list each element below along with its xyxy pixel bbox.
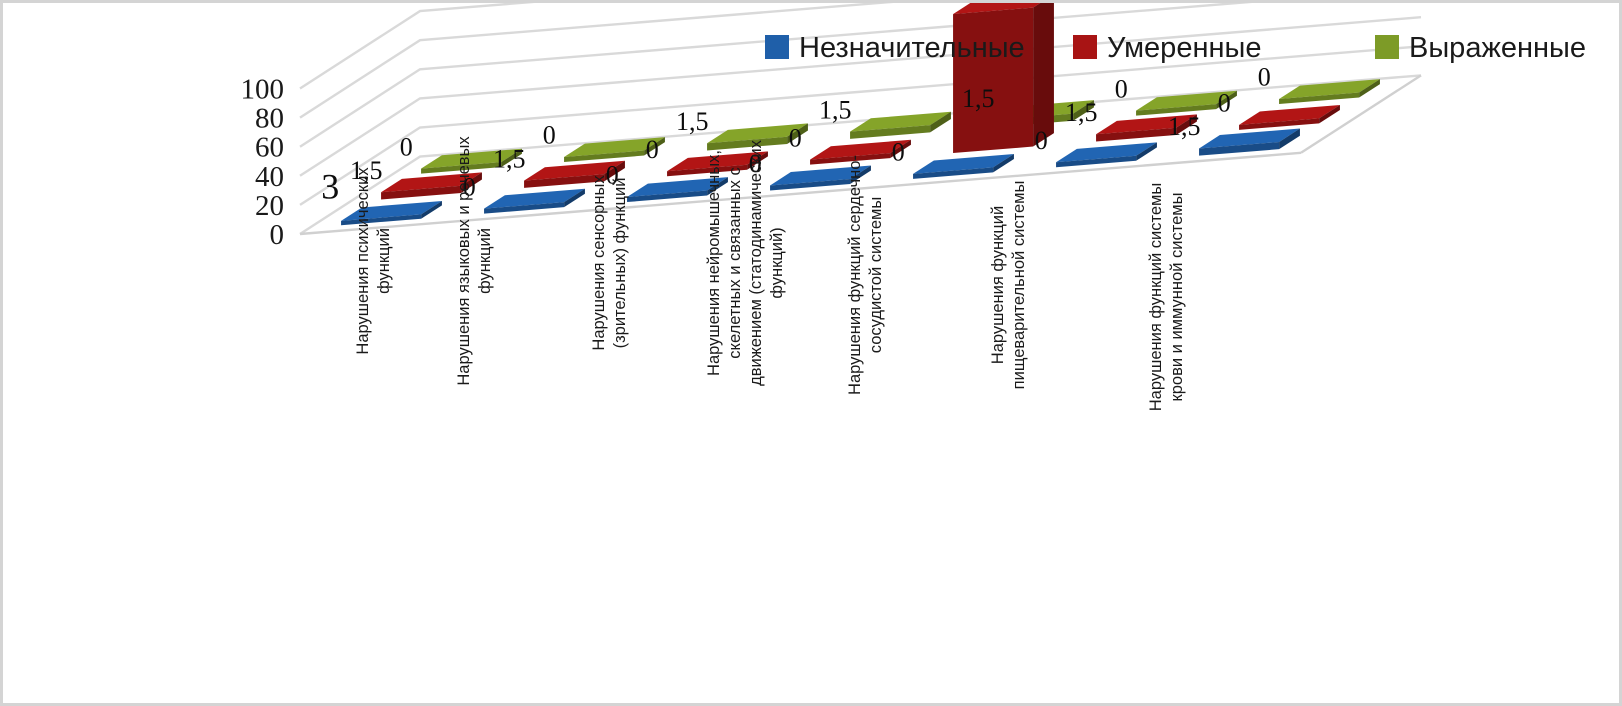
- x-axis-category-line: (зрительных) функций: [611, 178, 629, 349]
- x-axis-category-line: Нарушения функций: [989, 206, 1007, 364]
- y-axis-tick-label: 0: [270, 219, 285, 251]
- data-label: 0: [1035, 126, 1048, 155]
- data-label: 0: [646, 135, 659, 164]
- x-axis-category-line: сосудистой системы: [867, 197, 885, 353]
- x-axis-category-line: Нарушения психических: [354, 167, 372, 355]
- x-axis-category-line: Нарушения функций сердечно-: [846, 155, 864, 395]
- data-label: 0: [892, 138, 905, 167]
- x-axis-category-line: скелетных и связанных с: [726, 167, 744, 358]
- data-label: 1,5: [676, 107, 709, 136]
- legend-swatch: [765, 35, 789, 59]
- x-axis-category-line: Нарушения нейромышечных,: [705, 150, 723, 376]
- data-label: 1,5: [1168, 112, 1201, 141]
- y-axis-tick-label: 20: [255, 190, 284, 222]
- data-label: 3: [321, 167, 339, 207]
- x-axis-category-label: Нарушения функций сердечно-сосудистой си…: [846, 155, 885, 395]
- y-axis-ticks: 100806040200: [241, 74, 285, 252]
- x-axis-category-line: пищеварительной системы: [1010, 181, 1028, 390]
- y-axis-tick-label: 60: [255, 132, 284, 164]
- data-label: 1,5: [1065, 98, 1098, 127]
- bar-front-face: [953, 8, 1033, 153]
- x-axis-category-line: Нарушения сенсорных: [590, 175, 608, 351]
- y-axis-tick-label: 100: [241, 74, 285, 106]
- x-axis-category-label: Нарушения функций системыкрови и иммунно…: [1147, 183, 1186, 412]
- data-label: 1,5: [962, 84, 995, 113]
- chart-canvas: 001,51,51,50001,595,5001,51,51,5000003 1…: [3, 3, 1622, 706]
- x-axis-category-line: Нарушения языковых и речевых: [455, 136, 473, 386]
- legend-item[interactable]: Незначительные: [765, 32, 1025, 64]
- legend-label: Незначительные: [799, 32, 1025, 64]
- data-label: 0: [543, 121, 556, 150]
- x-axis-category-line: движением (статодинамических: [747, 139, 765, 386]
- data-label: 0: [789, 123, 802, 152]
- legend-swatch: [1073, 35, 1097, 59]
- data-label: 0: [1258, 63, 1271, 92]
- data-label: 0: [400, 132, 413, 161]
- legend-label: Умеренные: [1107, 32, 1261, 64]
- x-axis-category-line: функций: [375, 228, 393, 294]
- data-label: 0: [1218, 89, 1231, 118]
- data-label: 1,5: [493, 144, 526, 173]
- y-axis-tick-label: 40: [255, 161, 284, 193]
- chart-legend[interactable]: НезначительныеУмеренныеВыраженные: [765, 32, 1586, 64]
- data-label: 1,5: [819, 95, 852, 124]
- x-axis-category-line: Нарушения функций системы: [1147, 183, 1165, 412]
- legend-swatch: [1375, 35, 1399, 59]
- x-axis-category-line: функций: [476, 228, 494, 294]
- x-axis-category-label: Нарушения функцийпищеварительной системы: [989, 181, 1028, 390]
- legend-label: Выраженные: [1409, 32, 1586, 64]
- x-axis-category-line: функций): [768, 227, 786, 298]
- data-label: 0: [1115, 74, 1128, 103]
- chart-container: 001,51,51,50001,595,5001,51,51,5000003 1…: [0, 0, 1622, 706]
- y-axis-tick-label: 80: [255, 103, 284, 135]
- x-axis-category-line: крови и иммунной системы: [1168, 193, 1186, 402]
